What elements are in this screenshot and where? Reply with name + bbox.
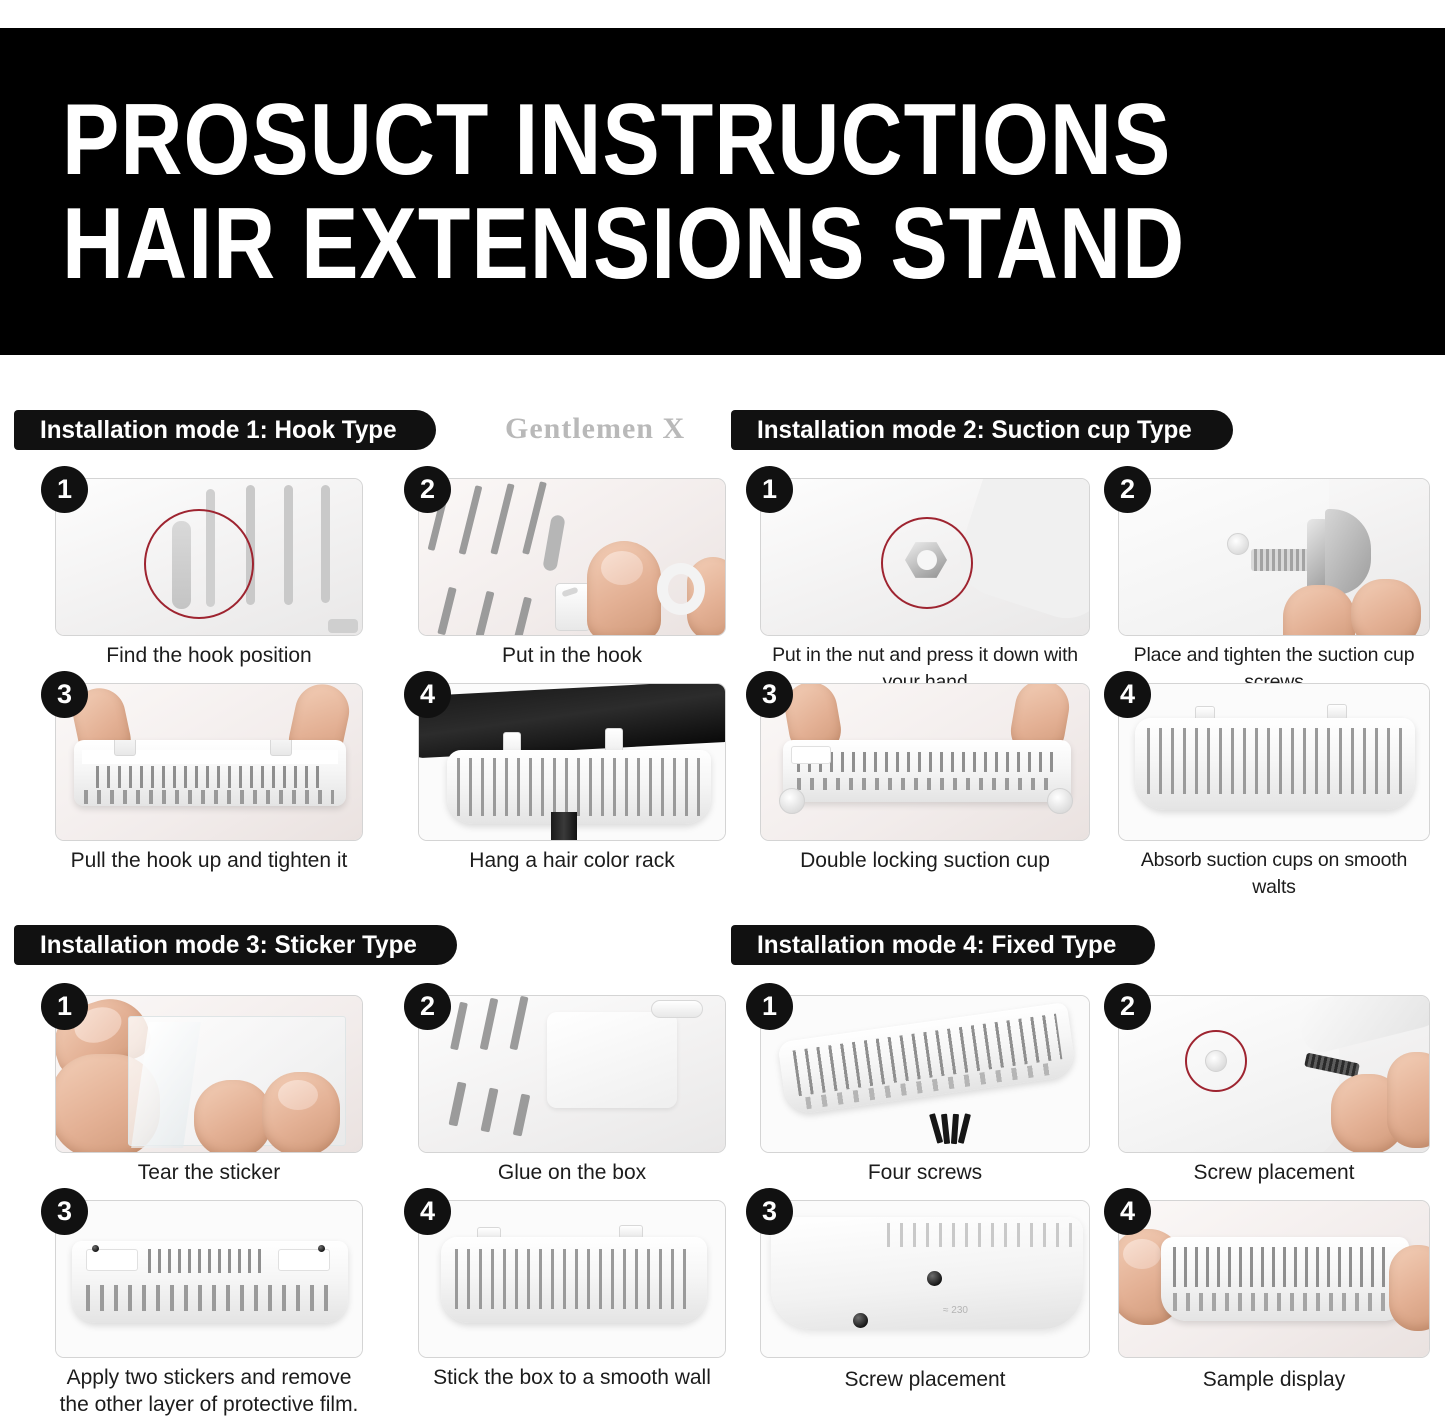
section-header-mode-1: Installation mode 1: Hook Type (14, 410, 436, 450)
step-photo-m1-s1 (55, 478, 363, 636)
section-title-mode-4: Installation mode 4: Fixed Type (757, 933, 1116, 958)
step-card-m4-s3: ≈ 230 3 Screw placement (760, 1200, 1090, 1400)
step-caption-m3-s3: Apply two stickers and remove the other … (55, 1364, 363, 1418)
step-card-m1-s4: 4 Hang a hair color rack (418, 683, 726, 873)
step-caption-m1-s4: Hang a hair color rack (418, 847, 726, 874)
brand-watermark: Gentlemen X (505, 412, 685, 446)
step-photo-m1-s2 (418, 478, 726, 636)
step-caption-m1-s1: Find the hook position (55, 642, 363, 669)
step-badge-m2-s1: 1 (746, 466, 793, 513)
step-photo-m3-s4 (418, 1200, 726, 1358)
section-header-mode-4: Installation mode 4: Fixed Type (731, 925, 1155, 965)
step-caption-m3-s1: Tear the sticker (55, 1159, 363, 1186)
step-card-m2-s2: 2 Place and tighten the suction cup scre… (1118, 478, 1430, 668)
step-card-m1-s3: 3 Pull the hook up and tighten it (55, 683, 363, 873)
step-badge-m4-s1: 1 (746, 983, 793, 1030)
step-card-m3-s4: 4 Stick the box to a smooth wall (418, 1200, 726, 1400)
step-photo-m3-s2 (418, 995, 726, 1153)
step-photo-m1-s3 (55, 683, 363, 841)
step-badge-m3-s2: 2 (404, 983, 451, 1030)
step-badge-m4-s2: 2 (1104, 983, 1151, 1030)
step-photo-m4-s1 (760, 995, 1090, 1153)
step-card-m2-s3: 3 Double locking suction cup (760, 683, 1090, 873)
step-card-m2-s1: 1 Put in the nut and press it down with … (760, 478, 1090, 668)
step-caption-m4-s3: Screw placement (760, 1366, 1090, 1393)
section-header-mode-2: Installation mode 2: Suction cup Type (731, 410, 1233, 450)
step-card-m3-s3: 3 Apply two stickers and remove the othe… (55, 1200, 363, 1400)
step-card-m1-s1: 1 Find the hook position (55, 478, 363, 668)
step-badge-m1-s1: 1 (41, 466, 88, 513)
section-title-mode-3: Installation mode 3: Sticker Type (40, 933, 417, 958)
step-card-m2-s4: 4 Absorb suction cups on smooth walts (1118, 683, 1430, 873)
step-photo-m3-s3 (55, 1200, 363, 1358)
step-photo-m2-s2 (1118, 478, 1430, 636)
step-badge-m2-s2: 2 (1104, 466, 1151, 513)
step-card-m3-s2: 2 Glue on the box (418, 995, 726, 1185)
step-badge-m1-s2: 2 (404, 466, 451, 513)
step-photo-m2-s4 (1118, 683, 1430, 841)
step-badge-m4-s4: 4 (1104, 1188, 1151, 1235)
step-caption-m3-s4: Stick the box to a smooth wall (418, 1364, 726, 1391)
step-badge-m4-s3: 3 (746, 1188, 793, 1235)
step-photo-m1-s4 (418, 683, 726, 841)
step-caption-m2-s3: Double locking suction cup (760, 847, 1090, 874)
section-header-mode-3: Installation mode 3: Sticker Type (14, 925, 457, 965)
section-title-mode-2: Installation mode 2: Suction cup Type (757, 418, 1192, 443)
step-photo-m4-s4 (1118, 1200, 1430, 1358)
step-badge-m3-s1: 1 (41, 983, 88, 1030)
step-photo-m3-s1 (55, 995, 363, 1153)
step-caption-m2-s4: Absorb suction cups on smooth walts (1118, 847, 1430, 901)
step-card-m4-s1: 1 Four screws (760, 995, 1090, 1185)
step-badge-m3-s3: 3 (41, 1188, 88, 1235)
step-badge-m3-s4: 4 (404, 1188, 451, 1235)
step-badge-m2-s3: 3 (746, 671, 793, 718)
step-caption-m1-s3: Pull the hook up and tighten it (55, 847, 363, 874)
step-card-m4-s4: 4 Sample display (1118, 1200, 1430, 1400)
step-badge-m1-s3: 3 (41, 671, 88, 718)
step-photo-m4-s2 (1118, 995, 1430, 1153)
title-banner: PROSUCT INSTRUCTIONS HAIR EXTENSIONS STA… (0, 28, 1445, 355)
step-caption-m3-s2: Glue on the box (418, 1159, 726, 1186)
step-card-m3-s1: 1 Tear the sticker (55, 995, 363, 1185)
section-title-mode-1: Installation mode 1: Hook Type (40, 418, 397, 443)
step-caption-m4-s1: Four screws (760, 1159, 1090, 1186)
step-card-m4-s2: 2 Screw placement (1118, 995, 1430, 1185)
step-photo-m2-s1 (760, 478, 1090, 636)
step-photo-m2-s3 (760, 683, 1090, 841)
step-badge-m2-s4: 4 (1104, 671, 1151, 718)
title-line-2: HAIR EXTENSIONS STAND (62, 182, 1445, 305)
step-photo-m4-s3: ≈ 230 (760, 1200, 1090, 1358)
step-caption-m4-s2: Screw placement (1118, 1159, 1430, 1186)
step-badge-m1-s4: 4 (404, 671, 451, 718)
step-card-m1-s2: 2 Put in the hook (418, 478, 726, 668)
step-caption-m4-s4: Sample display (1118, 1366, 1430, 1393)
step-caption-m1-s2: Put in the hook (418, 642, 726, 669)
